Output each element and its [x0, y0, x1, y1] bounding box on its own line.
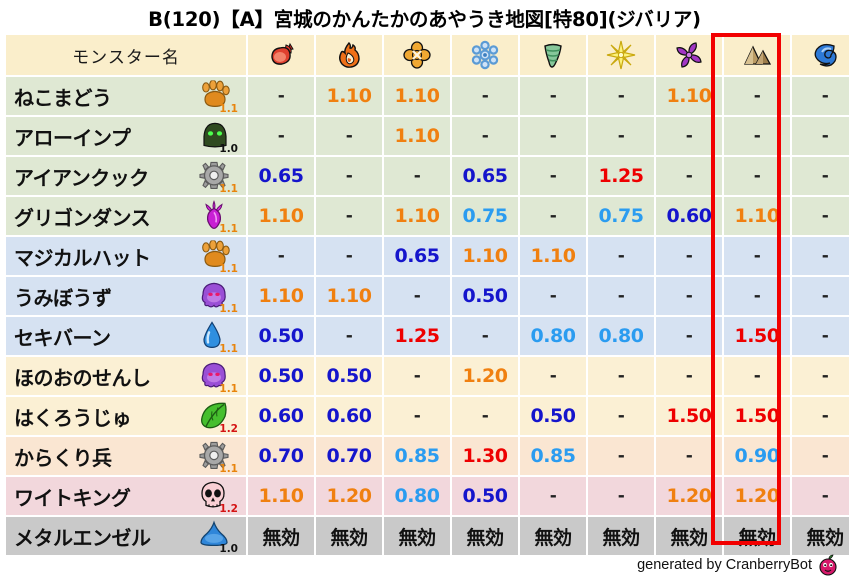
clover-icon [384, 40, 450, 70]
resistance-cell: - [520, 157, 586, 195]
snowflake-icon [452, 40, 518, 70]
monster-name-label: アローインプ [14, 122, 130, 151]
resistance-cell: 1.10 [520, 237, 586, 275]
resistance-cell: - [588, 117, 654, 155]
monster-level-label: 1.1 [219, 344, 238, 355]
mountain-icon [724, 40, 790, 70]
monster-name-cell[interactable]: はくろうじゅ1.2 [6, 397, 246, 435]
resistance-cell: - [248, 117, 314, 155]
resistance-cell: 0.80 [384, 477, 450, 515]
page-title: B(120)【A】宮城のかんたかのあやうき地図[特80](ジバリア) [0, 3, 849, 32]
resistance-cell: - [384, 397, 450, 435]
monster-level-label: 1.1 [219, 264, 238, 275]
resistance-cell: 1.10 [316, 277, 382, 315]
resistance-cell: - [792, 357, 849, 395]
monster-level-label: 1.1 [219, 304, 238, 315]
resistance-cell: 0.90 [724, 437, 790, 475]
resistance-cell: 1.10 [248, 277, 314, 315]
resistance-table: モンスター名 [4, 33, 849, 557]
resistance-cell: 無効 [384, 517, 450, 555]
header-element-light[interactable] [588, 35, 654, 75]
resistance-cell: 1.10 [384, 117, 450, 155]
resistance-cell: 無効 [724, 517, 790, 555]
resistance-cell: 無効 [792, 517, 849, 555]
resistance-cell: 0.65 [452, 157, 518, 195]
resistance-cell: - [520, 277, 586, 315]
monster-level-label: 1.0 [219, 144, 238, 155]
resistance-cell: 1.10 [384, 77, 450, 115]
resistance-cell: 無効 [316, 517, 382, 555]
resistance-cell: - [792, 157, 849, 195]
resistance-cell: - [248, 77, 314, 115]
meteor-icon [248, 40, 314, 70]
resistance-cell: - [588, 437, 654, 475]
monster-resistance-table-page: B(120)【A】宮城のかんたかのあやうき地図[特80](ジバリア) モンスター… [0, 0, 849, 583]
resistance-cell: - [588, 77, 654, 115]
resistance-cell: 1.50 [724, 397, 790, 435]
resistance-cell: 0.50 [316, 357, 382, 395]
resistance-cell: 1.10 [452, 237, 518, 275]
monster-name-label: グリゴンダンス [14, 202, 150, 231]
resistance-cell: 無効 [588, 517, 654, 555]
resistance-cell: 1.50 [724, 317, 790, 355]
table-row: メタルエンゼル1.0無効無効無効無効無効無効無効無効無効 [6, 517, 849, 555]
monster-name-cell[interactable]: アローインプ1.0 [6, 117, 246, 155]
resistance-cell: 無効 [520, 517, 586, 555]
monster-level-label: 1.0 [219, 544, 238, 555]
table-row: グリゴンダンス1.11.10-1.100.75-0.750.601.10- [6, 197, 849, 235]
resistance-cell: 0.75 [452, 197, 518, 235]
resistance-cell: 0.50 [520, 397, 586, 435]
resistance-cell: - [520, 77, 586, 115]
wave-icon [792, 40, 849, 70]
table-row: アローインプ1.0--1.10------ [6, 117, 849, 155]
monster-level-label: 1.1 [219, 224, 238, 235]
resistance-cell: 1.20 [724, 477, 790, 515]
monster-name-cell[interactable]: マジカルハット1.1 [6, 237, 246, 275]
monster-name-label: からくり兵 [14, 442, 112, 471]
resistance-cell: - [724, 237, 790, 275]
monster-name-label: アイアンクック [14, 162, 149, 191]
resistance-cell: - [656, 117, 722, 155]
resistance-cell: - [724, 77, 790, 115]
resistance-cell: 無効 [656, 517, 722, 555]
resistance-cell: - [316, 157, 382, 195]
resistance-cell: - [316, 237, 382, 275]
table-row: マジカルハット1.1--0.651.101.10---- [6, 237, 849, 275]
resistance-cell: 1.10 [724, 197, 790, 235]
resistance-cell: - [588, 477, 654, 515]
resistance-cell: - [724, 357, 790, 395]
header-monster-name: モンスター名 [6, 35, 246, 75]
table-row: ほのおのせんし1.10.500.50-1.20----- [6, 357, 849, 395]
resistance-cell: 0.60 [316, 397, 382, 435]
monster-name-cell[interactable]: うみぼうず1.1 [6, 277, 246, 315]
resistance-cell: - [384, 357, 450, 395]
resistance-cell: - [792, 477, 849, 515]
table-row: からくり兵1.10.700.700.851.300.85--0.90- [6, 437, 849, 475]
resistance-cell: 0.60 [656, 197, 722, 235]
monster-name-label: ねこまどう [14, 82, 112, 111]
resistance-cell: 1.20 [452, 357, 518, 395]
monster-name-label: はくろうじゅ [14, 402, 131, 431]
resistance-cell: 1.50 [656, 397, 722, 435]
resistance-cell: - [656, 317, 722, 355]
resistance-cell: - [520, 357, 586, 395]
monster-name-cell[interactable]: ワイトキング1.2 [6, 477, 246, 515]
resistance-cell: 1.10 [316, 77, 382, 115]
monster-name-cell[interactable]: ねこまどう1.1 [6, 77, 246, 115]
footer-text: generated by CranberryBot [637, 557, 812, 573]
monster-name-label: うみぼうず [14, 282, 112, 311]
resistance-cell: - [520, 117, 586, 155]
resistance-cell: 1.10 [656, 77, 722, 115]
resistance-cell: - [792, 277, 849, 315]
resistance-cell: - [792, 197, 849, 235]
resistance-cell: - [724, 117, 790, 155]
resistance-cell: - [452, 77, 518, 115]
resistance-cell: - [588, 397, 654, 435]
resistance-cell: 無効 [452, 517, 518, 555]
monster-name-label: セキバーン [14, 322, 111, 351]
resistance-cell: - [656, 157, 722, 195]
header-element-fire[interactable] [316, 35, 382, 75]
resistance-cell: - [452, 317, 518, 355]
resistance-cell: - [656, 357, 722, 395]
resistance-cell: 1.25 [588, 157, 654, 195]
resistance-cell: 0.85 [520, 437, 586, 475]
starburst-icon [588, 40, 654, 70]
monster-name-label: マジカルハット [14, 242, 151, 271]
resistance-cell: 0.50 [248, 317, 314, 355]
resistance-cell: - [656, 277, 722, 315]
footer: generated by CranberryBot [637, 554, 839, 576]
resistance-cell: 0.50 [452, 277, 518, 315]
monster-name-cell[interactable]: ほのおのせんし1.1 [6, 357, 246, 395]
resistance-cell: - [384, 277, 450, 315]
monster-level-label: 1.1 [219, 104, 238, 115]
resistance-cell: 0.65 [384, 237, 450, 275]
header-row: モンスター名 [6, 35, 849, 75]
resistance-cell: 0.50 [452, 477, 518, 515]
monster-name-label: メタルエンゼル [14, 522, 151, 551]
resistance-cell: - [656, 437, 722, 475]
resistance-cell: - [724, 157, 790, 195]
pinwheel-icon [656, 40, 722, 70]
header-element-meteor[interactable] [248, 35, 314, 75]
monster-level-label: 1.1 [219, 384, 238, 395]
resistance-cell: - [792, 117, 849, 155]
resistance-cell: - [588, 237, 654, 275]
resistance-cell: - [792, 437, 849, 475]
monster-level-label: 1.2 [219, 424, 238, 435]
header-element-wind[interactable] [520, 35, 586, 75]
resistance-cell: 0.50 [248, 357, 314, 395]
resistance-cell: - [656, 237, 722, 275]
resistance-cell: 0.70 [248, 437, 314, 475]
table-row: ねこまどう1.1-1.101.10---1.10-- [6, 77, 849, 115]
resistance-cell: - [724, 277, 790, 315]
table-row: セキバーン1.10.50-1.25-0.800.80-1.50- [6, 317, 849, 355]
resistance-cell: 0.80 [520, 317, 586, 355]
resistance-cell: - [520, 477, 586, 515]
table-row: アイアンクック1.10.65--0.65-1.25--- [6, 157, 849, 195]
table-row: はくろうじゅ1.20.600.60--0.50-1.501.50- [6, 397, 849, 435]
monster-name-cell[interactable]: メタルエンゼル1.0 [6, 517, 246, 555]
header-element-ice[interactable] [452, 35, 518, 75]
header-element-earth[interactable] [724, 35, 790, 75]
resistance-cell: 無効 [248, 517, 314, 555]
resistance-cell: - [384, 157, 450, 195]
resistance-cell: 1.20 [656, 477, 722, 515]
resistance-cell: - [792, 237, 849, 275]
table-row: うみぼうず1.11.101.10-0.50----- [6, 277, 849, 315]
resistance-cell: - [316, 317, 382, 355]
resistance-cell: 1.10 [384, 197, 450, 235]
resistance-cell: 1.10 [248, 197, 314, 235]
header-element-earthclub[interactable] [384, 35, 450, 75]
resistance-cell: - [792, 397, 849, 435]
resistance-cell: - [248, 237, 314, 275]
resistance-cell: 0.80 [588, 317, 654, 355]
resistance-cell: - [452, 397, 518, 435]
table-body: ねこまどう1.1-1.101.10---1.10--アローインプ1.0--1.1… [6, 77, 849, 555]
resistance-cell: 0.60 [248, 397, 314, 435]
tornado-icon [520, 40, 586, 70]
monster-level-label: 1.2 [219, 504, 238, 515]
header-element-water[interactable] [792, 35, 849, 75]
resistance-cell: 1.20 [316, 477, 382, 515]
monster-name-cell[interactable]: グリゴンダンス1.1 [6, 197, 246, 235]
resistance-cell: - [316, 117, 382, 155]
cranberry-icon [817, 554, 839, 576]
resistance-cell: - [316, 197, 382, 235]
monster-name-label: ほのおのせんし [14, 362, 151, 391]
resistance-cell: 0.75 [588, 197, 654, 235]
resistance-cell: 0.70 [316, 437, 382, 475]
flame-icon [316, 40, 382, 70]
resistance-cell: 1.30 [452, 437, 518, 475]
resistance-cell: - [792, 77, 849, 115]
header-element-dark[interactable] [656, 35, 722, 75]
resistance-cell: - [588, 277, 654, 315]
monster-level-label: 1.1 [219, 464, 238, 475]
resistance-cell: - [588, 357, 654, 395]
resistance-cell: - [520, 197, 586, 235]
resistance-cell: 1.10 [248, 477, 314, 515]
monster-name-cell[interactable]: セキバーン1.1 [6, 317, 246, 355]
table-row: ワイトキング1.21.101.200.800.50--1.201.20- [6, 477, 849, 515]
monster-name-cell[interactable]: アイアンクック1.1 [6, 157, 246, 195]
monster-name-cell[interactable]: からくり兵1.1 [6, 437, 246, 475]
resistance-cell: 0.65 [248, 157, 314, 195]
resistance-cell: - [452, 117, 518, 155]
resistance-cell: - [792, 317, 849, 355]
monster-level-label: 1.1 [219, 184, 238, 195]
monster-name-label: ワイトキング [14, 482, 130, 511]
resistance-cell: 1.25 [384, 317, 450, 355]
table-head: モンスター名 [6, 35, 849, 75]
resistance-cell: 0.85 [384, 437, 450, 475]
